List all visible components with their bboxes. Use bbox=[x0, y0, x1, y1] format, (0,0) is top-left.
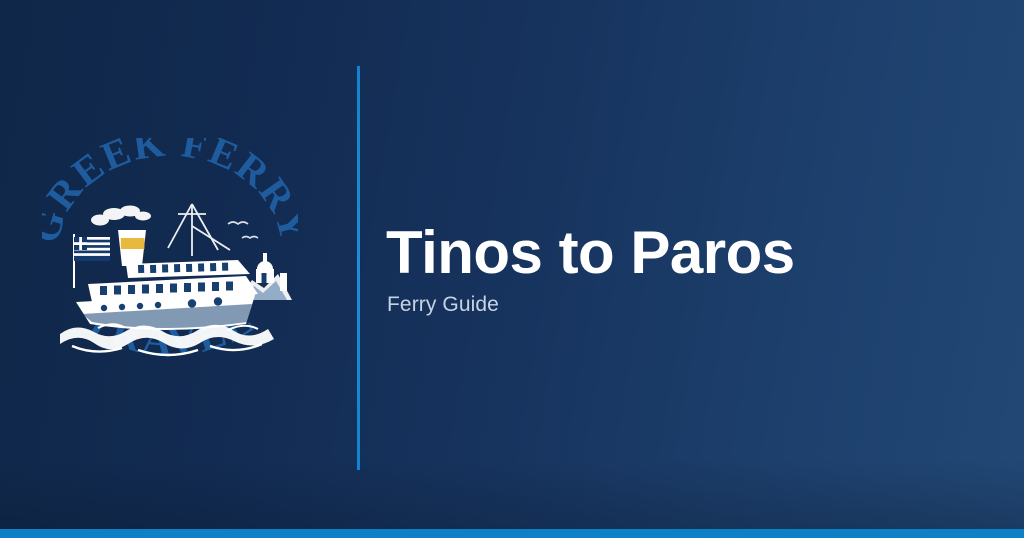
hero-text-block: Tinos to Paros Ferry Guide bbox=[386, 222, 986, 316]
hero-banner: GREEK FERRY TRAVEL bbox=[0, 0, 1024, 538]
page-title: Tinos to Paros bbox=[386, 222, 986, 284]
seagull-icon bbox=[228, 222, 258, 238]
vertical-divider bbox=[357, 66, 360, 470]
greek-flag-icon bbox=[74, 234, 110, 288]
smoke-icon bbox=[91, 206, 151, 226]
brand-logo: GREEK FERRY TRAVEL bbox=[42, 138, 298, 378]
bottom-accent-bar bbox=[0, 529, 1024, 538]
mast-icon bbox=[168, 204, 230, 256]
funnel-icon bbox=[118, 230, 146, 266]
logo-arc-top-text: GREEK FERRY bbox=[42, 138, 298, 247]
page-subtitle: Ferry Guide bbox=[387, 293, 986, 316]
